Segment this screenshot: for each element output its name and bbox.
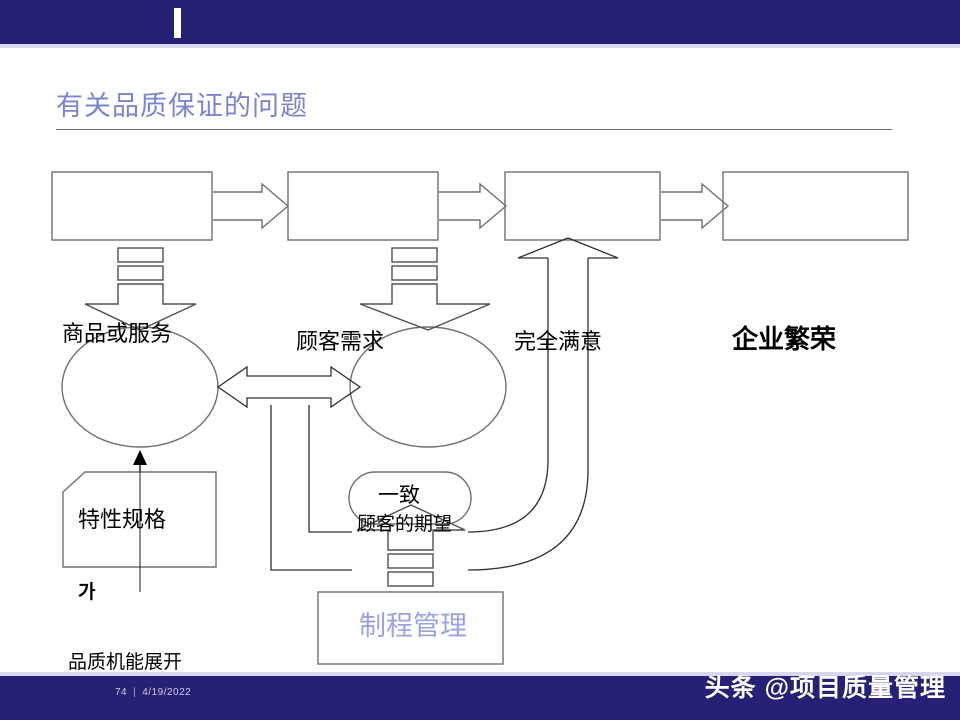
arrow-spec-expectation-bidirectional xyxy=(218,367,360,407)
arrow-satisfaction-to-prosperity xyxy=(661,184,728,228)
shape-customer-need xyxy=(288,172,438,240)
label-spec-extra: 가 xyxy=(78,583,95,604)
top-banner xyxy=(0,0,960,44)
label-consistency: 一致 xyxy=(378,484,448,507)
arrow-need-to-satisfaction xyxy=(439,184,506,228)
shape-full-satisfaction xyxy=(505,172,660,240)
arrow-need-to-expectation xyxy=(360,248,490,330)
shape-product-service xyxy=(52,172,212,240)
label-full-satisfaction: 完全满意 xyxy=(514,330,664,354)
title-divider xyxy=(56,129,892,130)
arrow-product-to-need xyxy=(213,184,288,228)
slide: 有关品质保证的问题 xyxy=(0,0,960,720)
label-customer-expectation: 顾客的期望 xyxy=(357,515,507,536)
label-product-service: 商品或服务 xyxy=(62,322,212,346)
page-title: 有关品质保证的问题 xyxy=(56,90,308,122)
label-spec: 特性规格 xyxy=(78,508,196,532)
diagram-canvas: 商品或服务 顾客需求 完全满意 企业繁荣 特性规格 가 顾客的期望 一致 品质机… xyxy=(0,140,960,670)
footer-meta: 74|4/19/2022 xyxy=(115,687,191,698)
label-customer-need: 顾客需求 xyxy=(296,330,436,354)
shape-enterprise-prosperity xyxy=(723,172,908,240)
diagram-connectors xyxy=(0,140,960,670)
label-process-management: 制程管理 xyxy=(328,612,498,641)
footer-page-number: 74 xyxy=(115,687,127,698)
arrow-into-full-satisfaction xyxy=(518,238,618,258)
footer-date: 4/19/2022 xyxy=(142,687,191,698)
footer-separator: | xyxy=(133,687,136,698)
top-banner-underline xyxy=(0,44,960,48)
connector-spec-to-consistency xyxy=(271,405,352,570)
label-qfd: 品质机能展开 xyxy=(68,653,220,674)
text-cursor-icon xyxy=(174,8,181,38)
label-enterprise-prosperity: 企业繁荣 xyxy=(732,326,912,354)
arrow-service-to-spec xyxy=(85,248,196,330)
watermark-label: 头条 @项目质量管理 xyxy=(705,668,946,704)
